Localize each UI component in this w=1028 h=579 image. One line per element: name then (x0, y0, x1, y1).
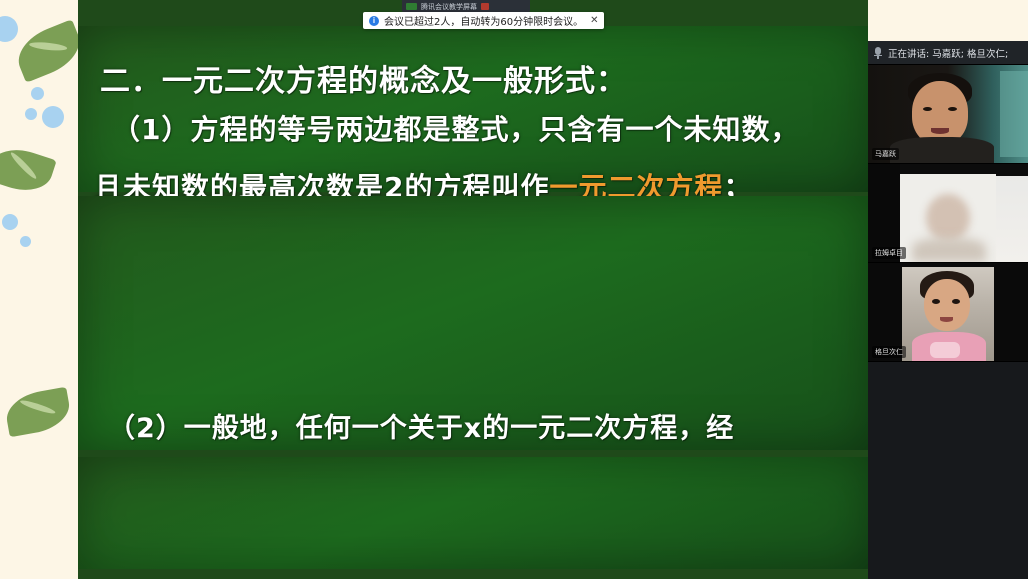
board-heading: 二．一元二次方程的概念及一般形式： (100, 56, 627, 100)
microphone-icon (874, 47, 882, 59)
video-tile[interactable]: 格旦次仁 (868, 263, 1028, 362)
chalkboard: 二．一元二次方程的概念及一般形式： （1）方程的等号两边都是整式，只含有一个未知… (78, 0, 868, 579)
leaf-icon (0, 141, 57, 198)
screen-root: 二．一元二次方程的概念及一般形式： （1）方程的等号两边都是整式，只含有一个未知… (0, 0, 1028, 579)
screen-share-icon (406, 3, 417, 10)
meeting-notification: i 会议已超过2人，自动转为60分钟限时会议。 ✕ (363, 12, 604, 29)
bubble-icon (31, 87, 44, 100)
video-tile[interactable]: 马嘉跃 (868, 65, 1028, 164)
video-tile[interactable]: 拉姆卓目 (868, 164, 1028, 263)
app-strip-label: 腾讯会议教学屏幕 (421, 2, 477, 12)
speaking-indicator: 正在讲话: 马嘉跃; 格旦次仁; (868, 41, 1028, 65)
bubble-icon (2, 214, 18, 230)
record-icon (481, 3, 489, 10)
participant-name: 格旦次仁 (872, 346, 906, 358)
board-panel-definition: 二．一元二次方程的概念及一般形式： （1）方程的等号两边都是整式，只含有一个未知… (78, 26, 868, 192)
leaf-icon (11, 19, 88, 83)
board-panel-terms: 其中ax2是二次项，a是二次项系数； bx是一次项， b是一次项系数；c是常数项… (78, 457, 868, 569)
notification-text: 会议已超过2人，自动转为60分钟限时会议。 (384, 13, 583, 28)
leaf-icon (3, 387, 73, 438)
video-sidebar: 正在讲话: 马嘉跃; 格旦次仁; 马嘉跃 拉姆卓目 (868, 41, 1028, 461)
bubble-icon (0, 16, 18, 42)
participant-name: 马嘉跃 (872, 148, 899, 160)
close-icon[interactable]: ✕ (588, 15, 598, 26)
participant-name: 拉姆卓目 (872, 247, 906, 259)
sidebar-filler (868, 461, 1028, 579)
board-panel-general-form: （2）一般地，任何一个关于x的一元二次方程，经 过整理，都能化成如下形式 ： a… (78, 196, 868, 450)
definition-line-1: （1）方程的等号两边都是整式，只含有一个未知数， (112, 108, 800, 148)
bubble-icon (42, 106, 64, 128)
speaking-text: 正在讲话: 马嘉跃; 格旦次仁; (888, 46, 1008, 60)
bubble-icon (20, 236, 31, 247)
info-icon: i (369, 16, 379, 26)
bubble-icon (25, 108, 37, 120)
general-form-line-1: （2）一般地，任何一个关于x的一元二次方程，经 (108, 406, 734, 445)
